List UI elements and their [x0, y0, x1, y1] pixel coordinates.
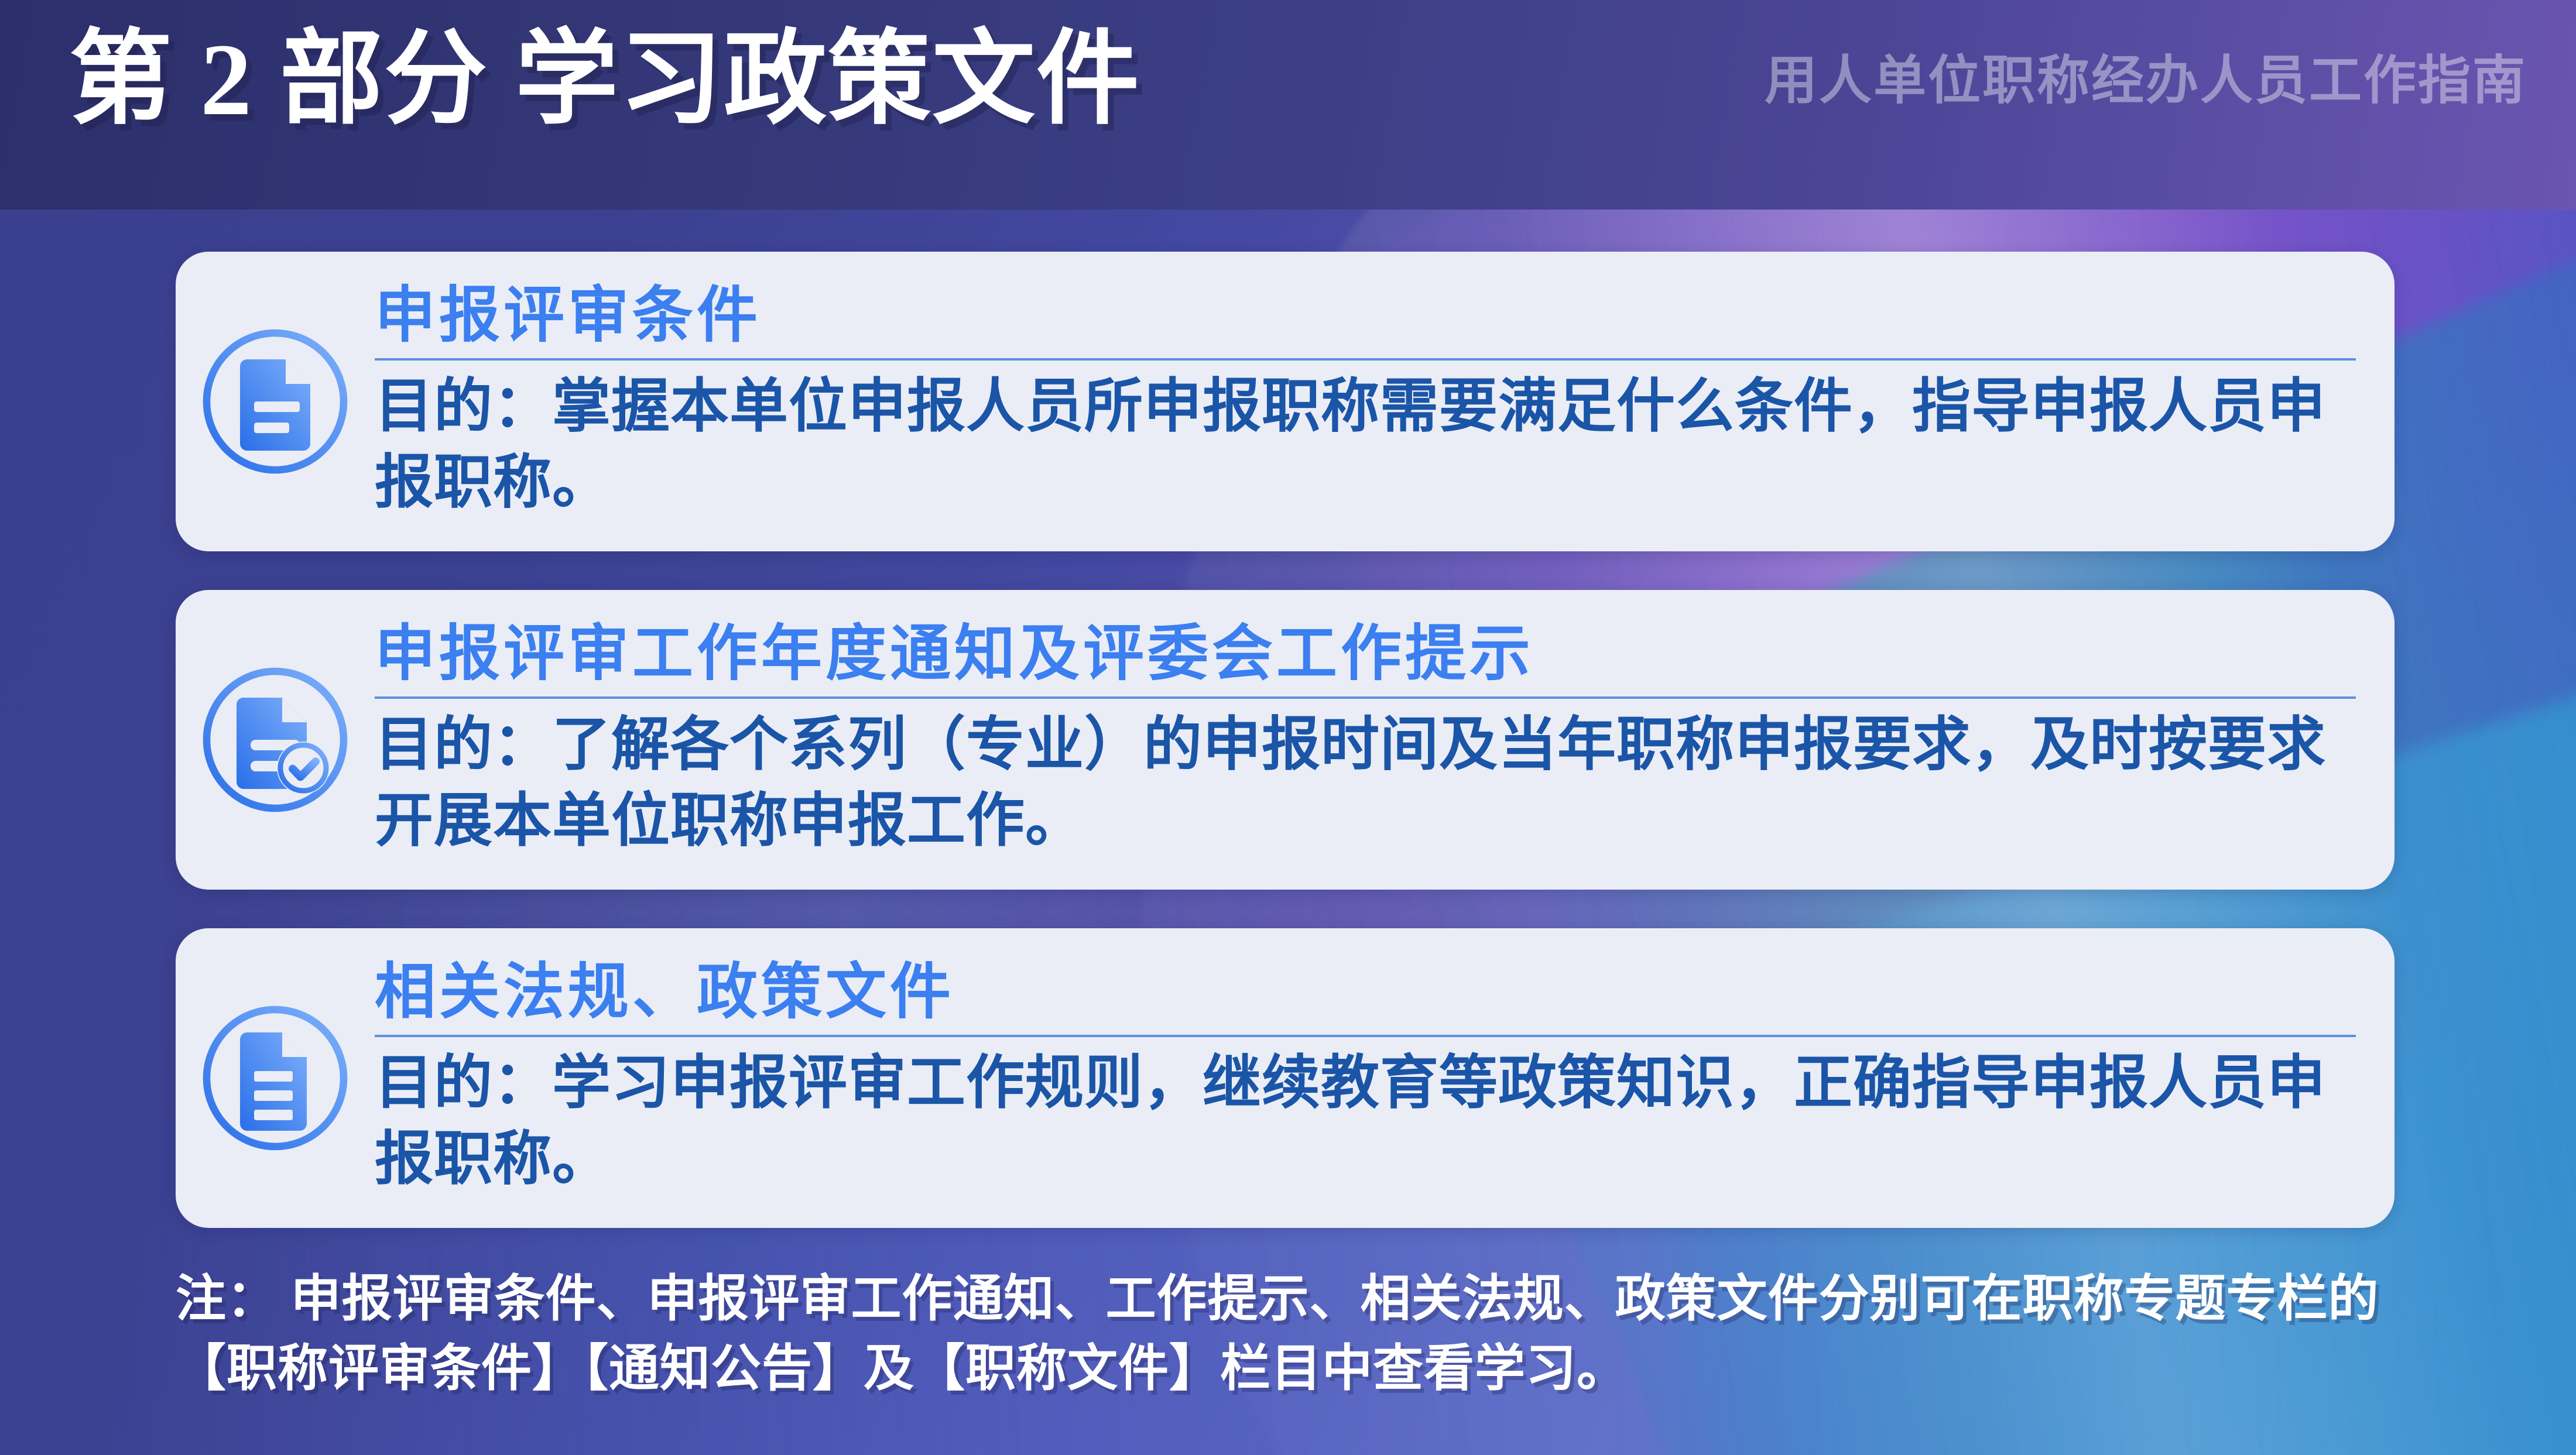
document-check-icon [176, 590, 375, 890]
list-item[interactable]: 申报评审工作年度通知及评委会工作提示 目的：了解各个系列（专业）的申报时间及当年… [176, 590, 2395, 890]
card-title: 申报评审工作年度通知及评委会工作提示 [375, 620, 2356, 694]
card-description: 目的：学习申报评审工作规则，继续教育等政策知识，正确指导申报人员申报职称。 [375, 1045, 2356, 1197]
card-title: 相关法规、政策文件 [375, 959, 2356, 1032]
slide-root: 第 2 部分 学习政策文件 用人单位职称经办人员工作指南 [0, 0, 2576, 1455]
card-body: 申报评审工作年度通知及评委会工作提示 目的：了解各个系列（专业）的申报时间及当年… [375, 620, 2395, 859]
card-divider [375, 1035, 2356, 1037]
card-body: 相关法规、政策文件 目的：学习申报评审工作规则，继续教育等政策知识，正确指导申报… [375, 959, 2395, 1197]
page-title: 第 2 部分 学习政策文件 [69, 25, 1140, 136]
card-divider [375, 696, 2356, 699]
card-description: 目的：了解各个系列（专业）的申报时间及当年职称申报要求，及时按要求开展本单位职称… [375, 707, 2356, 859]
header-subtitle: 用人单位职称经办人员工作指南 [1765, 37, 2527, 114]
card-title: 申报评审条件 [375, 282, 2356, 356]
document-lines-icon [176, 252, 375, 551]
footer-note: 注： 申报评审条件、申报评审工作通知、工作提示、相关法规、政策文件分别可在职称专… [176, 1264, 2424, 1403]
slide-header: 第 2 部分 学习政策文件 用人单位职称经办人员工作指南 [0, 0, 2576, 210]
footer-note-line-2: 【职称评审条件】【通知公告】及【职称文件】栏目中查看学习。 [176, 1334, 2424, 1403]
footer-note-line-1: 注： 申报评审条件、申报评审工作通知、工作提示、相关法规、政策文件分别可在职称专… [176, 1264, 2424, 1334]
card-body: 申报评审条件 目的：掌握本单位申报人员所申报职称需要满足什么条件，指导申报人员申… [375, 282, 2395, 521]
list-item[interactable]: 相关法规、政策文件 目的：学习申报评审工作规则，继续教育等政策知识，正确指导申报… [176, 928, 2395, 1228]
card-divider [375, 358, 2356, 361]
list-item[interactable]: 申报评审条件 目的：掌握本单位申报人员所申报职称需要满足什么条件，指导申报人员申… [176, 252, 2395, 551]
document-list-icon [176, 928, 375, 1228]
card-description: 目的：掌握本单位申报人员所申报职称需要满足什么条件，指导申报人员申报职称。 [375, 369, 2356, 521]
